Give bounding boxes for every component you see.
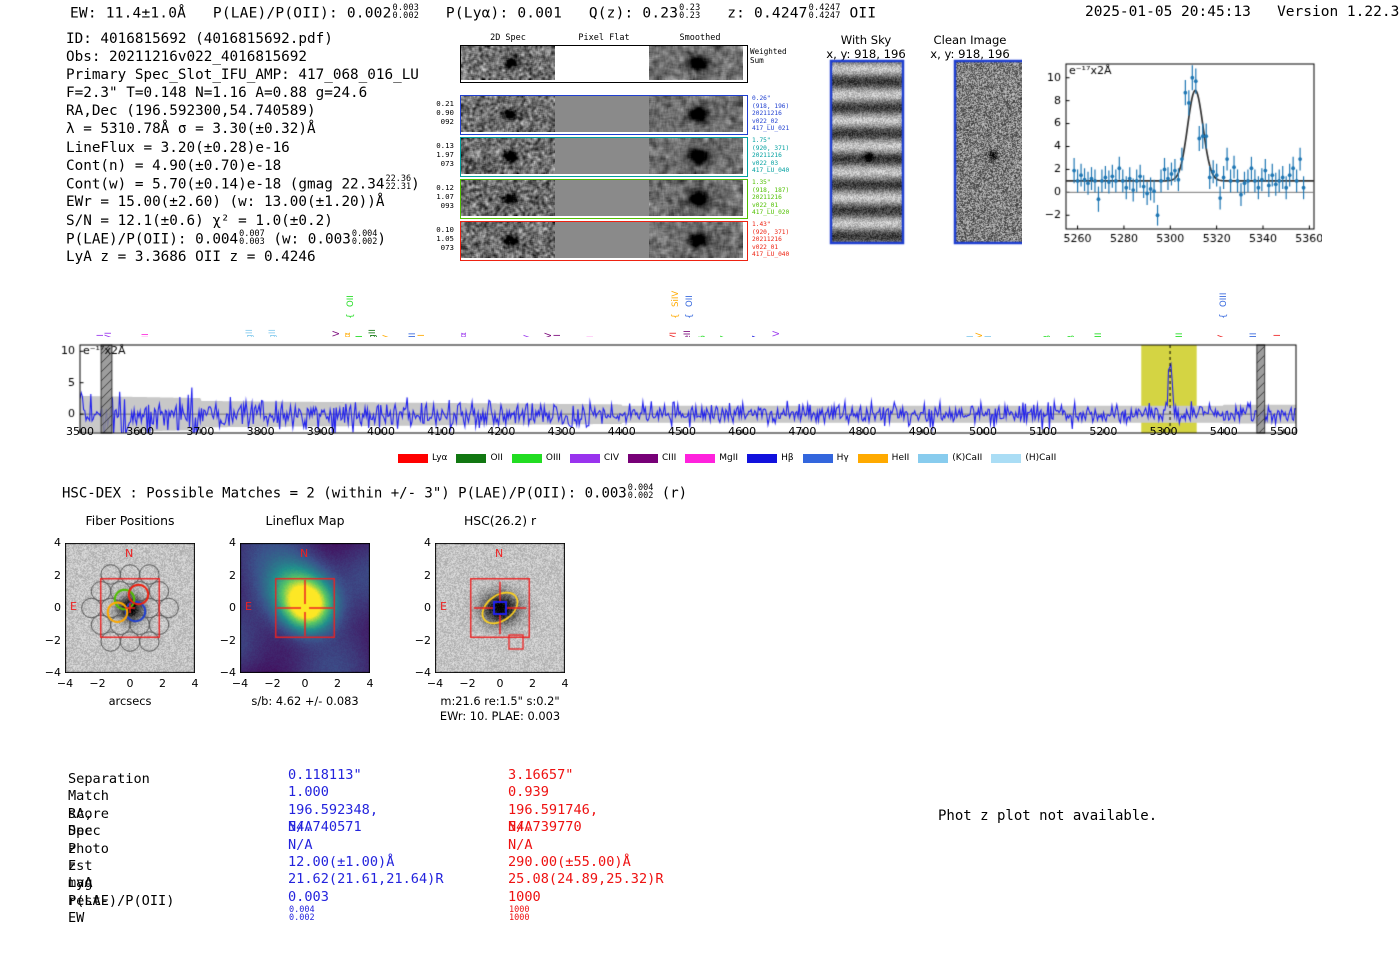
compass-north: N	[300, 547, 308, 560]
cutout-y-tick: −2	[216, 634, 236, 647]
legend-label: OII	[490, 453, 502, 463]
spectrum-x-tick: 5100	[1021, 425, 1065, 438]
cutout-x-tick: 2	[519, 677, 547, 690]
legend-label: MgII	[719, 453, 738, 463]
match-plae-errors: 0.0040.002	[289, 906, 315, 922]
cutout-y-tick: 2	[216, 569, 236, 582]
match-row-value: N/A	[508, 837, 533, 854]
cutout-y-tick: 0	[411, 601, 431, 614]
info-plae-w-errors: 0.0040.002	[352, 230, 378, 246]
cutout-x-tick: 2	[324, 677, 352, 690]
match-plae-value: 1000	[508, 889, 541, 905]
info-snr-chi2: S/N = 12.1(±0.6) χ² = 1.0(±0.2)	[66, 212, 420, 230]
cutout-title: HSC(26.2) r	[405, 513, 595, 528]
header-z-label: z:	[727, 6, 745, 22]
cutout-y-tick: 0	[41, 601, 61, 614]
cutout-y-tick: −4	[216, 666, 236, 679]
info-id: ID: 4016815692 (4016815692.pdf)	[66, 30, 420, 48]
spectrum-line-bracket: {	[685, 313, 695, 319]
spec2d-montage: 2D Spec Pixel Flat Smoothed WeightedSum …	[460, 33, 760, 255]
cutout-title: Fiber Positions	[35, 513, 225, 528]
clean-image-title: Clean Image	[918, 33, 1022, 47]
header-z-value: 0.4247	[754, 6, 808, 22]
info-obs: Obs: 20211216v022_4016815692	[66, 48, 420, 66]
cutout-x-tick: 0	[291, 677, 319, 690]
full-spectrum-plot	[0, 337, 1400, 467]
spec2d-metric: 1.07	[420, 192, 454, 201]
info-plae-errors: 0.0070.003	[239, 230, 265, 246]
spec2d-metric: 0.21	[420, 99, 454, 108]
spec2d-metric: 0.13	[420, 141, 454, 150]
match-row-value: N/A	[288, 837, 313, 854]
spec2d-metric: 0.90	[420, 108, 454, 117]
cutout-x-tick: 0	[486, 677, 514, 690]
legend-label: (K)CaII	[952, 453, 982, 463]
cutout-caption-2: EWr: 10. PLAE: 0.003	[395, 709, 605, 723]
cutout-image-fiber-positions[interactable]	[65, 543, 195, 673]
spectrum-x-tick: 5400	[1202, 425, 1246, 438]
spec2d-detail-line: 417_LU_040	[752, 251, 816, 259]
spectrum-x-tick: 3700	[178, 425, 222, 438]
match-row-label: mag	[68, 875, 93, 892]
compass-north: N	[125, 547, 133, 560]
cutout-x-tick: −2	[454, 677, 482, 690]
spec2d-row-metrics: 0.121.07093	[420, 183, 454, 210]
legend-swatch	[747, 454, 777, 463]
spectrum-line-label: OIII	[1219, 293, 1229, 307]
compass-east: E	[70, 600, 77, 613]
emission-line-fit-plot	[1022, 50, 1322, 265]
hscdex-title-suffix: (r)	[662, 486, 687, 502]
source-info-block: ID: 4016815692 (4016815692.pdf) Obs: 202…	[66, 30, 420, 267]
spectrum-x-tick: 4900	[901, 425, 945, 438]
legend-item: Hγ	[803, 453, 849, 463]
legend-label: HeII	[892, 453, 910, 463]
spec2d-detail-line: 1.75"	[752, 137, 816, 145]
spectrum-x-tick: 5200	[1081, 425, 1125, 438]
spectrum-x-tick: 4200	[479, 425, 523, 438]
compass-north: N	[495, 547, 503, 560]
spec2d-metric: 0.10	[420, 225, 454, 234]
legend-label: CIV	[604, 453, 619, 463]
header-plae-value: 0.002	[347, 6, 392, 22]
spec2d-detail-line: v022_02	[752, 118, 816, 126]
legend-swatch	[628, 454, 658, 463]
spec2d-detail-line: (920, 371)	[752, 229, 816, 237]
spec2d-detail-line: 417_LU_020	[752, 209, 816, 217]
spectrum-x-tick: 3500	[58, 425, 102, 438]
spec2d-metric: 073	[420, 159, 454, 168]
header-plya-value: 0.001	[517, 6, 562, 22]
spec2d-detail-line: (920, 371)	[752, 145, 816, 153]
spec2d-col-header-smoothed: Smoothed	[652, 33, 748, 43]
spectrum-x-tick: 4800	[841, 425, 885, 438]
info-cont-w: Cont(w) = 5.70(±0.14)e-18 (gmag 22.3422.…	[66, 175, 420, 194]
legend-item: (H)CaII	[991, 453, 1056, 463]
legend-item: OIII	[512, 453, 561, 463]
cutout-x-label: arcsecs	[35, 694, 225, 708]
match-row-label: Separation	[68, 771, 150, 788]
cutout-y-tick: 4	[41, 536, 61, 549]
compass-east: E	[245, 600, 252, 613]
spectrum-x-tick: 3900	[299, 425, 343, 438]
spectrum-x-tick: 4600	[720, 425, 764, 438]
spec2d-detail-line: 0.26"	[752, 95, 816, 103]
cutout-x-tick: 4	[551, 677, 579, 690]
cutout-caption: m:21.6 re:1.5" s:0.2"	[395, 694, 605, 708]
spectrum-x-tick: 4100	[419, 425, 463, 438]
spectrum-x-tick: 4500	[660, 425, 704, 438]
match-row-value: 1.000	[288, 784, 329, 801]
spec2d-metric: 073	[420, 243, 454, 252]
legend-label: OIII	[546, 453, 561, 463]
legend-swatch	[512, 454, 542, 463]
cutout-x-tick: 2	[149, 677, 177, 690]
match-row-value: 3.16657"	[508, 767, 573, 784]
cutout-y-tick: −2	[411, 634, 431, 647]
header-plya-label: P(Lyα):	[446, 6, 509, 22]
legend-swatch	[570, 454, 600, 463]
cutout-x-tick: 0	[116, 677, 144, 690]
cutout-x-tick: −2	[84, 677, 112, 690]
with-sky-title: With Sky	[816, 33, 916, 47]
spec2d-detail-line: 417_LU_040	[752, 167, 816, 175]
legend-label: CIII	[662, 453, 676, 463]
header-timestamp-version: 2025-01-05 20:45:13 Version 1.22.3	[1085, 4, 1399, 20]
spec2d-col-header-pixelflat: Pixel Flat	[556, 33, 652, 43]
header-qz-value: 0.23	[642, 6, 678, 22]
header-qz-errors: 0.230.23	[679, 4, 700, 20]
spectrum-x-tick: 5300	[1142, 425, 1186, 438]
cutout-y-tick: −2	[41, 634, 61, 647]
header-plae-errors: 0.0030.002	[393, 4, 420, 20]
header-ew: EW: 11.4±1.0Å	[70, 6, 186, 22]
spec2d-row	[460, 179, 748, 219]
cutout-caption: s/b: 4.62 +/- 0.083	[200, 694, 410, 708]
match-row-value: 25.08(24.89,25.32)R	[508, 871, 664, 888]
spec2d-metric: 0.12	[420, 183, 454, 192]
cutout-image-hsc-r-image[interactable]	[435, 543, 565, 673]
info-ewr: EWr = 15.00(±2.60) (w: 13.00(±1.20))Å	[66, 193, 420, 211]
header-plae-label: P(LAE)/P(OII):	[213, 6, 338, 22]
legend-label: Hγ	[837, 453, 849, 463]
spec2d-detail-line: 1.43"	[752, 221, 816, 229]
legend-swatch	[918, 454, 948, 463]
info-cont-n: Cont(n) = 4.90(±0.70)e-18	[66, 157, 420, 175]
header-z-errors: 0.42470.4247	[809, 4, 841, 20]
cutout-x-tick: 4	[356, 677, 384, 690]
hscdex-title-text: HSC-DEX : Possible Matches = 2 (within +…	[62, 486, 627, 502]
legend-swatch	[991, 454, 1021, 463]
match-row-value: 21.62(21.61,21.64)R	[288, 871, 444, 888]
spec2d-detail-line: 20211216	[752, 194, 816, 202]
info-plae: P(LAE)/P(OII): 0.0040.0070.003 (w: 0.003…	[66, 230, 420, 249]
match-row-value: N/A	[508, 819, 533, 836]
spec2d-row-detail: 1.75"(920, 371)20211216v022_03417_LU_040	[752, 137, 816, 175]
spectrum-x-tick: 3600	[118, 425, 162, 438]
match-row-value: 12.00(±1.00)Å	[288, 854, 394, 871]
legend-swatch	[803, 454, 833, 463]
spec2d-row	[460, 95, 748, 135]
spectrum-x-tick: 3800	[239, 425, 283, 438]
cutout-y-tick: 0	[216, 601, 236, 614]
match-row-value: 0.939	[508, 784, 549, 801]
spec2d-row	[460, 137, 748, 177]
cutout-panels: Fiber PositionsNE−4−2024420−2−4arcsecsLi…	[0, 505, 700, 745]
spec2d-detail-line: 20211216	[752, 110, 816, 118]
hscdex-title: HSC-DEX : Possible Matches = 2 (within +…	[62, 484, 687, 502]
info-radec: RA,Dec (196.592300,54.740589)	[66, 102, 420, 120]
spec2d-row	[460, 45, 748, 83]
cutout-y-tick: −4	[41, 666, 61, 679]
spec2d-row-metrics: 0.131.97073	[420, 141, 454, 168]
spec2d-col-header-2dspec: 2D Spec	[460, 33, 556, 43]
spec2d-row-detail: 1.35"(918, 187)20211216v022_01417_LU_020	[752, 179, 816, 217]
match-row-value: 0.0030.0040.002	[288, 889, 329, 925]
spectrum-line-label: OII	[685, 295, 695, 307]
spec2d-detail-line: 417_LU_021	[752, 125, 816, 133]
spec2d-detail-line: 20211216	[752, 236, 816, 244]
spectrum-line-bracket: {	[1219, 313, 1229, 319]
cutout-y-tick: 2	[41, 569, 61, 582]
match-plae-errors: 10001000	[509, 906, 529, 922]
match-row-value: N/A	[288, 819, 313, 836]
header-qz-label: Q(z):	[589, 6, 634, 22]
spec2d-detail-line: v022_03	[752, 160, 816, 168]
legend-swatch	[398, 454, 428, 463]
info-cont-w-errors: 22.3622.31	[385, 175, 411, 191]
info-seeing: F=2.3" T=0.148 N=1.16 A=0.88 g=24.6	[66, 84, 420, 102]
cutout-x-tick: −2	[259, 677, 287, 690]
legend-item: OII	[456, 453, 502, 463]
spec2d-detail-line: 1.35"	[752, 179, 816, 187]
spec2d-row	[460, 221, 748, 261]
info-primary-spec: Primary Spec_Slot_IFU_AMP: 417_068_016_L…	[66, 66, 420, 84]
spec2d-metric: 093	[420, 201, 454, 210]
phot-z-unavailable-message: Phot z plot not available.	[938, 808, 1157, 824]
spec2d-detail-line: v022_01	[752, 244, 816, 252]
header-datetime: 2025-01-05 20:45:13	[1085, 4, 1251, 20]
legend-item: Lyα	[398, 453, 447, 463]
legend-swatch	[685, 454, 715, 463]
match-row-value: 290.00(±55.00)Å	[508, 854, 631, 871]
match-row-value: 0.118113"	[288, 767, 362, 784]
legend-item: (K)CaII	[918, 453, 982, 463]
legend-swatch	[858, 454, 888, 463]
header-version: Version 1.22.3	[1277, 4, 1399, 20]
match-row-value: 100010001000	[508, 889, 541, 925]
spectrum-x-tick: 4300	[540, 425, 584, 438]
legend-swatch	[456, 454, 486, 463]
match-plae-value: 0.003	[288, 889, 329, 905]
cutout-x-tick: 4	[181, 677, 209, 690]
spec2d-row-detail: 0.26"(918, 196)20211216v022_02417_LU_021	[752, 95, 816, 133]
spectrum-legend: LyαOIIOIIICIVCIIIMgIIHβHγHeII(K)CaII(H)C…	[398, 453, 1065, 463]
cutout-y-tick: −4	[411, 666, 431, 679]
spectrum-x-tick: 4700	[780, 425, 824, 438]
compass-east: E	[440, 600, 447, 613]
spectrum-line-bracket: {	[671, 313, 681, 319]
cutout-y-tick: 4	[216, 536, 236, 549]
spec2d-detail-line: (918, 196)	[752, 103, 816, 111]
spectrum-x-tick: 5000	[961, 425, 1005, 438]
spec2d-detail-line: (918, 187)	[752, 187, 816, 195]
spec2d-detail-line: 20211216	[752, 152, 816, 160]
cutout-title: Lineflux Map	[210, 513, 400, 528]
spectrum-line-label: SiIV	[671, 291, 681, 307]
legend-item: CIII	[628, 453, 676, 463]
spec2d-metric: 092	[420, 117, 454, 126]
spec2d-row-detail: 1.43"(920, 371)20211216v022_01417_LU_040	[752, 221, 816, 259]
info-redshifts: LyA z = 3.3686 OII z = 0.4246	[66, 248, 420, 266]
legend-item: Hβ	[747, 453, 794, 463]
info-lambda-sigma: λ = 5310.78Å σ = 3.30(±0.32)Å	[66, 120, 420, 138]
spec2d-row-metrics: 0.101.05073	[420, 225, 454, 252]
spec2d-detail-line: v022_01	[752, 202, 816, 210]
spectrum-line-bracket: {	[346, 313, 356, 319]
spectrum-x-tick: 4000	[359, 425, 403, 438]
legend-item: CIV	[570, 453, 619, 463]
spectrum-x-tick: 5500	[1262, 425, 1306, 438]
cutout-y-tick: 2	[411, 569, 431, 582]
legend-label: (H)CaII	[1025, 453, 1056, 463]
header-z-species: OII	[849, 6, 876, 22]
legend-label: Hβ	[781, 453, 794, 463]
spec2d-metric: 1.97	[420, 150, 454, 159]
header-summary-line: EW: 11.4±1.0Å P(LAE)/P(OII): 0.0020.0030…	[70, 4, 876, 22]
info-lineflux: LineFlux = 3.20(±0.28)e-16	[66, 139, 420, 157]
match-row-label: P(LAE)/P(OII)	[68, 893, 174, 910]
spec2d-row-metrics: 0.210.90092	[420, 99, 454, 126]
hscdex-plae-errors: 0.0040.002	[628, 484, 654, 500]
spectrum-x-tick: 4400	[600, 425, 644, 438]
spectrum-line-label: OII	[346, 295, 356, 307]
cutout-y-tick: 4	[411, 536, 431, 549]
legend-label: Lyα	[432, 453, 447, 463]
legend-item: HeII	[858, 453, 910, 463]
cutout-image-lineflux-map[interactable]	[240, 543, 370, 673]
spec2d-metric: 1.05	[420, 234, 454, 243]
legend-item: MgII	[685, 453, 738, 463]
